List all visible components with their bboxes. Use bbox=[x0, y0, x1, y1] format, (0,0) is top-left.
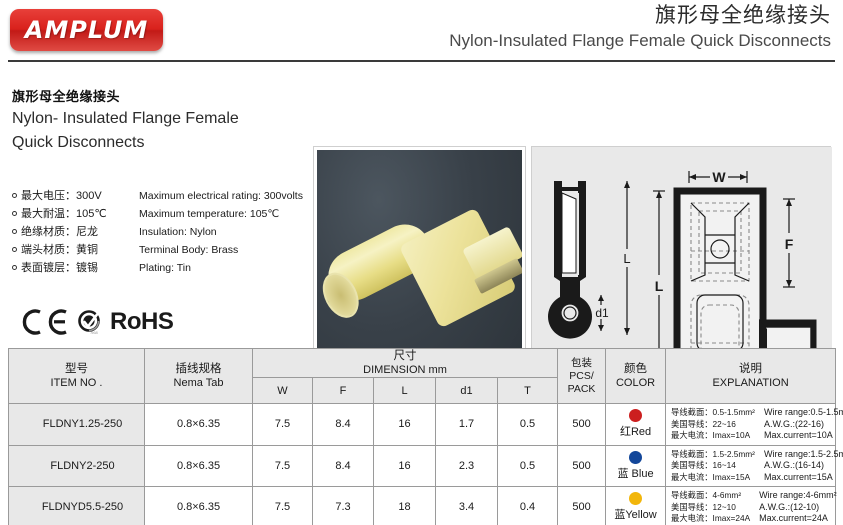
explanation-cn: 导线截面：4-6mm² 美国导线：12~10 最大电流：Imax=24A bbox=[671, 490, 750, 525]
expl-en-line: Max.current=10A bbox=[764, 430, 843, 442]
expl-en-line: A.W.G.:(22-16) bbox=[764, 419, 843, 431]
header-dimension-cn: 尺寸 bbox=[253, 349, 557, 363]
svg-text:.968: .968 bbox=[90, 330, 99, 335]
explanation-cn: 导线截面：0.5-1.5mm² 美国导线：22~16 最大电流：Imax=10A bbox=[671, 407, 755, 442]
header-dimension-en: DIMENSION mm bbox=[253, 363, 557, 377]
header-color: 颜色 COLOR bbox=[606, 349, 666, 404]
dimension-label-l-top: L bbox=[655, 278, 664, 294]
expl-en-line: Max.current=24A bbox=[759, 513, 837, 525]
datasheet-page: AMPLUM 旗形母全绝缘接头 Nylon-Insulated Flange F… bbox=[0, 0, 843, 525]
table-body: FLDNY1.25-250 0.8×6.35 7.5 8.4 16 1.7 0.… bbox=[9, 404, 836, 525]
color-swatch-icon bbox=[629, 492, 642, 505]
cell-d1: 3.4 bbox=[436, 487, 498, 525]
table-row: FLDNYD5.5-250 0.8×6.35 7.5 7.3 18 3.4 0.… bbox=[9, 487, 836, 525]
spec-label-cn: 端头材质：黄铜 bbox=[21, 241, 139, 257]
specification-table: 型号 ITEM NO . 插线规格 Nema Tab 尺寸 DIMENSION … bbox=[8, 348, 836, 525]
product-spec-panel: 旗形母全绝缘接头 Nylon- Insulated Flange Female … bbox=[12, 86, 312, 277]
spec-label-cn: 最大耐温：105℃ bbox=[21, 205, 139, 221]
cell-nema: 0.8×6.35 bbox=[145, 445, 253, 487]
specification-list: 最大电压：300V Maximum electrical rating: 300… bbox=[12, 187, 312, 277]
rohs-mark-label: RoHS bbox=[110, 308, 173, 336]
upper-content: 旗形母全绝缘接头 Nylon- Insulated Flange Female … bbox=[0, 62, 843, 345]
cell-t: 0.5 bbox=[498, 404, 558, 446]
cell-explanation: 导线截面：0.5-1.5mm² 美国导线：22~16 最大电流：Imax=10A… bbox=[666, 404, 836, 446]
specification-table-wrapper: 型号 ITEM NO . 插线规格 Nema Tab 尺寸 DIMENSION … bbox=[8, 348, 835, 525]
expl-en-line: A.W.G.:(12-10) bbox=[759, 502, 837, 514]
spec-label-en: Plating: Tin bbox=[139, 262, 191, 274]
check-circle-icon: .968 bbox=[77, 309, 103, 335]
header-dim-f: F bbox=[313, 378, 374, 404]
expl-cn-line: 美国导线：22~16 bbox=[671, 419, 755, 431]
cell-explanation: 导线截面：4-6mm² 美国导线：12~10 最大电流：Imax=24A Wir… bbox=[666, 487, 836, 525]
bullet-icon bbox=[12, 265, 17, 270]
header-title-en: Nylon-Insulated Flange Female Quick Disc… bbox=[449, 29, 831, 53]
cell-color: 蓝Yellow bbox=[606, 487, 666, 525]
header-item-no-cn: 型号 bbox=[9, 362, 144, 376]
spec-item: 端头材质：黄铜 Terminal Body: Brass bbox=[12, 241, 312, 259]
header-explanation-cn: 说明 bbox=[666, 362, 835, 376]
cell-w: 7.5 bbox=[253, 445, 313, 487]
explanation-cn: 导线截面：1.5-2.5mm² 美国导线：16~14 最大电流：Imax=15A bbox=[671, 449, 755, 484]
expl-en-line: A.W.G.:(16-14) bbox=[764, 460, 843, 472]
dimension-label-d1: d1 bbox=[595, 306, 609, 320]
cell-l: 18 bbox=[374, 487, 436, 525]
header-dim-l: L bbox=[374, 378, 436, 404]
cell-item-no: FLDNYD5.5-250 bbox=[9, 487, 145, 525]
dimension-label-w: W bbox=[712, 169, 726, 185]
header-pack: 包装 PCS/ PACK bbox=[558, 349, 606, 404]
cell-nema: 0.8×6.35 bbox=[145, 487, 253, 525]
expl-en-line: Wire range:4-6mm² bbox=[759, 490, 837, 502]
color-swatch-icon bbox=[629, 409, 642, 422]
spec-item: 最大耐温：105℃ Maximum temperature: 105℃ bbox=[12, 205, 312, 223]
spec-label-cn: 绝缘材质：尼龙 bbox=[21, 223, 139, 239]
spec-item: 最大电压：300V Maximum electrical rating: 300… bbox=[12, 187, 312, 205]
explanation-en: Wire range:0.5-1.5mm² A.W.G.:(22-16) Max… bbox=[764, 407, 843, 442]
table-row: FLDNY2-250 0.8×6.35 7.5 8.4 16 2.3 0.5 5… bbox=[9, 445, 836, 487]
cell-l: 16 bbox=[374, 445, 436, 487]
cell-color: 红Red bbox=[606, 404, 666, 446]
cell-d1: 2.3 bbox=[436, 445, 498, 487]
certification-marks: .968 RoHS bbox=[22, 308, 173, 336]
expl-cn-line: 最大电流：Imax=10A bbox=[671, 430, 755, 442]
header-nema-tab: 插线规格 Nema Tab bbox=[145, 349, 253, 404]
header-dim-d1: d1 bbox=[436, 378, 498, 404]
header-nema-en: Nema Tab bbox=[145, 376, 252, 390]
cell-nema: 0.8×6.35 bbox=[145, 404, 253, 446]
cell-f: 8.4 bbox=[313, 404, 374, 446]
cell-explanation: 导线截面：1.5-2.5mm² 美国导线：16~14 最大电流：Imax=15A… bbox=[666, 445, 836, 487]
header-nema-cn: 插线规格 bbox=[145, 362, 252, 376]
cell-f: 7.3 bbox=[313, 487, 374, 525]
spec-label-en: Terminal Body: Brass bbox=[139, 244, 238, 256]
header-color-cn: 颜色 bbox=[606, 362, 665, 376]
product-title-cn: 旗形母全绝缘接头 bbox=[12, 86, 312, 105]
header-dimension: 尺寸 DIMENSION mm bbox=[253, 349, 558, 378]
cell-l: 16 bbox=[374, 404, 436, 446]
color-label: 蓝 Blue bbox=[606, 465, 665, 481]
bullet-icon bbox=[12, 247, 17, 252]
expl-cn-line: 最大电流：Imax=24A bbox=[671, 513, 750, 525]
bullet-icon bbox=[12, 211, 17, 216]
expl-cn-line: 最大电流：Imax=15A bbox=[671, 472, 755, 484]
cell-pack: 500 bbox=[558, 404, 606, 446]
color-label: 蓝Yellow bbox=[606, 506, 665, 522]
cell-color: 蓝 Blue bbox=[606, 445, 666, 487]
header-title-cn: 旗形母全绝缘接头 bbox=[449, 3, 831, 29]
table-header-row-1: 型号 ITEM NO . 插线规格 Nema Tab 尺寸 DIMENSION … bbox=[9, 349, 836, 378]
cell-f: 8.4 bbox=[313, 445, 374, 487]
expl-en-line: Wire range:0.5-1.5mm² bbox=[764, 407, 843, 419]
expl-cn-line: 导线截面：4-6mm² bbox=[671, 490, 750, 502]
cell-d1: 1.7 bbox=[436, 404, 498, 446]
bullet-icon bbox=[12, 193, 17, 198]
table-row: FLDNY1.25-250 0.8×6.35 7.5 8.4 16 1.7 0.… bbox=[9, 404, 836, 446]
header-title-group: 旗形母全绝缘接头 Nylon-Insulated Flange Female Q… bbox=[449, 3, 831, 53]
color-label: 红Red bbox=[606, 423, 665, 439]
spec-label-cn: 表面镀层：镀锡 bbox=[21, 259, 139, 275]
header-pack-en-2: PACK bbox=[558, 383, 605, 396]
header-dim-t: T bbox=[498, 378, 558, 404]
explanation-en: Wire range:4-6mm² A.W.G.:(12-10) Max.cur… bbox=[759, 490, 837, 525]
header-item-no: 型号 ITEM NO . bbox=[9, 349, 145, 404]
spec-label-en: Maximum electrical rating: 300volts bbox=[139, 190, 303, 202]
expl-cn-line: 导线截面：0.5-1.5mm² bbox=[671, 407, 755, 419]
page-header: AMPLUM 旗形母全绝缘接头 Nylon-Insulated Flange F… bbox=[0, 0, 843, 62]
header-item-no-en: ITEM NO . bbox=[9, 376, 144, 390]
explanation-en: Wire range:1.5-2.5mm² A.W.G.:(16-14) Max… bbox=[764, 449, 843, 484]
cell-w: 7.5 bbox=[253, 487, 313, 525]
spec-item: 绝缘材质：尼龙 Insulation: Nylon bbox=[12, 223, 312, 241]
cell-w: 7.5 bbox=[253, 404, 313, 446]
cell-pack: 500 bbox=[558, 487, 606, 525]
company-logo-text: AMPLUM bbox=[25, 16, 148, 44]
header-pack-cn: 包装 bbox=[558, 357, 605, 370]
header-dim-w: W bbox=[253, 378, 313, 404]
header-pack-en-1: PCS/ bbox=[558, 370, 605, 383]
bullet-icon bbox=[12, 229, 17, 234]
expl-cn-line: 导线截面：1.5-2.5mm² bbox=[671, 449, 755, 461]
product-title-en-line2: Quick Disconnects bbox=[12, 132, 312, 153]
header-color-en: COLOR bbox=[606, 376, 665, 390]
cell-t: 0.5 bbox=[498, 445, 558, 487]
cell-pack: 500 bbox=[558, 445, 606, 487]
expl-en-line: Max.current=15A bbox=[764, 472, 843, 484]
cell-t: 0.4 bbox=[498, 487, 558, 525]
expl-cn-line: 美国导线：12~10 bbox=[671, 502, 750, 514]
spec-item: 表面镀层：镀锡 Plating: Tin bbox=[12, 259, 312, 277]
cell-item-no: FLDNY2-250 bbox=[9, 445, 145, 487]
header-explanation-en: EXPLANATION bbox=[666, 376, 835, 390]
ce-mark-icon bbox=[22, 309, 70, 335]
spec-label-en: Maximum temperature: 105℃ bbox=[139, 208, 279, 220]
cell-item-no: FLDNY1.25-250 bbox=[9, 404, 145, 446]
color-swatch-icon bbox=[629, 451, 642, 464]
header-explanation: 说明 EXPLANATION bbox=[666, 349, 836, 404]
expl-cn-line: 美国导线：16~14 bbox=[671, 460, 755, 472]
spec-label-en: Insulation: Nylon bbox=[139, 226, 217, 238]
dimension-label-l-side: L bbox=[623, 251, 630, 266]
expl-en-line: Wire range:1.5-2.5mm² bbox=[764, 449, 843, 461]
table-header: 型号 ITEM NO . 插线规格 Nema Tab 尺寸 DIMENSION … bbox=[9, 349, 836, 404]
company-logo: AMPLUM bbox=[10, 9, 163, 51]
dimension-label-f: F bbox=[785, 236, 794, 252]
spec-label-cn: 最大电压：300V bbox=[21, 187, 139, 203]
product-title-en-line1: Nylon- Insulated Flange Female bbox=[12, 108, 312, 129]
